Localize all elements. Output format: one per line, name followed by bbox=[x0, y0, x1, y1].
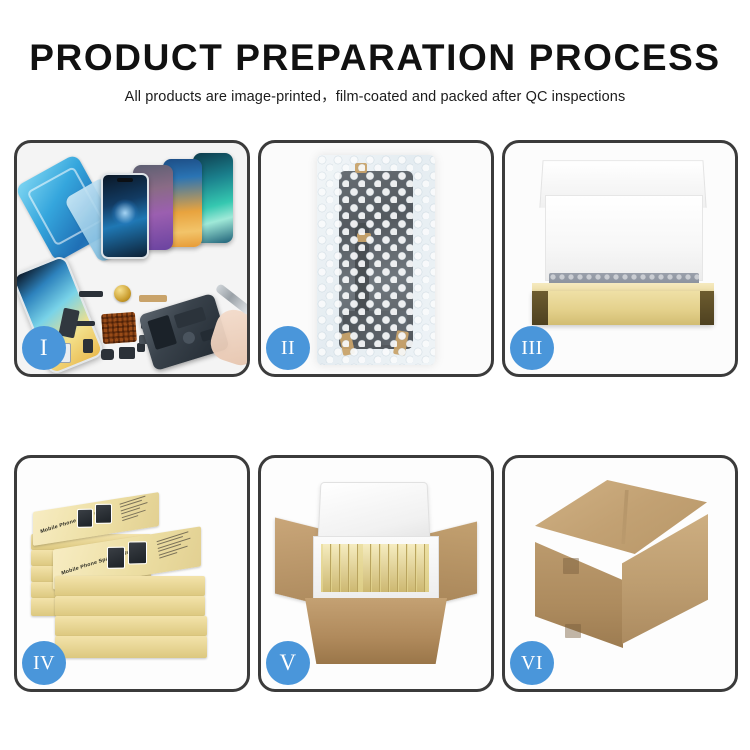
foam-sheet-icon bbox=[545, 195, 703, 281]
steps-grid: I II bbox=[14, 140, 736, 692]
mesh-grid-component-icon bbox=[101, 312, 137, 344]
stacked-box bbox=[55, 636, 207, 658]
tape-patch-icon bbox=[563, 558, 579, 574]
box-artwork-screen bbox=[77, 509, 93, 528]
step-badge-1: I bbox=[22, 326, 66, 370]
carton-body bbox=[305, 598, 447, 664]
header: PRODUCT PREPARATION PROCESS All products… bbox=[0, 36, 750, 107]
step-panel-2: II bbox=[258, 140, 494, 377]
product-preparation-infographic: PRODUCT PREPARATION PROCESS All products… bbox=[0, 0, 750, 750]
step-panel-6: VI bbox=[502, 455, 738, 692]
flex-cable-icon bbox=[139, 295, 167, 302]
chip-component-icon bbox=[83, 339, 93, 353]
speaker-component-icon bbox=[101, 349, 114, 360]
box-artwork-screen bbox=[95, 504, 112, 524]
step-badge-2: II bbox=[266, 326, 310, 370]
phone-front-display-icon bbox=[101, 173, 149, 259]
step-panel-1: I bbox=[14, 140, 250, 377]
screw-component-icon bbox=[137, 343, 145, 352]
box-spec-lines bbox=[120, 494, 153, 523]
kraft-box-stack: Mobile Phone Spare Parts Mobile Phone Sp… bbox=[31, 480, 237, 670]
box-artwork-screen bbox=[128, 541, 147, 564]
tape-patch-icon bbox=[565, 624, 581, 638]
step-badge-6: VI bbox=[510, 641, 554, 685]
stacked-box bbox=[55, 616, 207, 636]
gold-component-icon bbox=[114, 285, 131, 302]
step-panel-3: III bbox=[502, 140, 738, 377]
stacked-box bbox=[55, 596, 205, 616]
foam-cooler-lid bbox=[317, 482, 430, 544]
step-panel-5: V bbox=[258, 455, 494, 692]
page-title: PRODUCT PREPARATION PROCESS bbox=[0, 36, 750, 80]
step-badge-3: III bbox=[510, 326, 554, 370]
chip-component-icon bbox=[79, 291, 103, 297]
camera-component-icon bbox=[119, 347, 135, 359]
box-spec-lines bbox=[157, 530, 196, 561]
box-artwork-screen bbox=[107, 547, 125, 569]
page-subtitle: All products are image-printed，film-coat… bbox=[0, 87, 750, 107]
stacked-box bbox=[55, 576, 205, 596]
packed-boxes bbox=[321, 544, 429, 592]
step-panel-4: Mobile Phone Spare Parts Mobile Phone Sp… bbox=[14, 455, 250, 692]
step-badge-5: V bbox=[266, 641, 310, 685]
bubble-wrapped-package bbox=[317, 155, 435, 365]
step-badge-4: IV bbox=[22, 641, 66, 685]
chip-component-icon bbox=[75, 321, 95, 326]
kraft-box-icon bbox=[532, 291, 714, 325]
bubble-highlight-texture bbox=[317, 155, 435, 365]
